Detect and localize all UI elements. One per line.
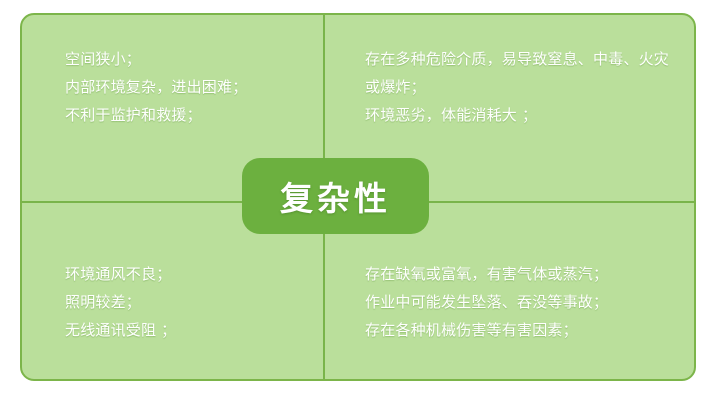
quadrant-text-top-left: 空间狭小； 内部环境复杂，进出困难； 不利于监护和救援； <box>65 45 305 129</box>
quadrant-text-top-right: 存在多种危险介质，易导致窒息、中毒、火灾或爆炸； 环境恶劣，体能消耗大 ； <box>365 45 675 129</box>
quadrant-text-bottom-left: 环境通风不良； 照明较差； 无线通讯受阻 ； <box>65 260 305 344</box>
center-badge: 复杂性 <box>242 158 429 234</box>
quadrant-text-bottom-right: 存在缺氧或富氧，有害气体或蒸汽； 作业中可能发生坠落、吞没等事故； 存在各种机械… <box>365 260 681 344</box>
diagram-canvas: 空间狭小； 内部环境复杂，进出困难； 不利于监护和救援； 存在多种危险介质，易导… <box>0 0 720 400</box>
center-badge-label: 复杂性 <box>280 172 391 220</box>
